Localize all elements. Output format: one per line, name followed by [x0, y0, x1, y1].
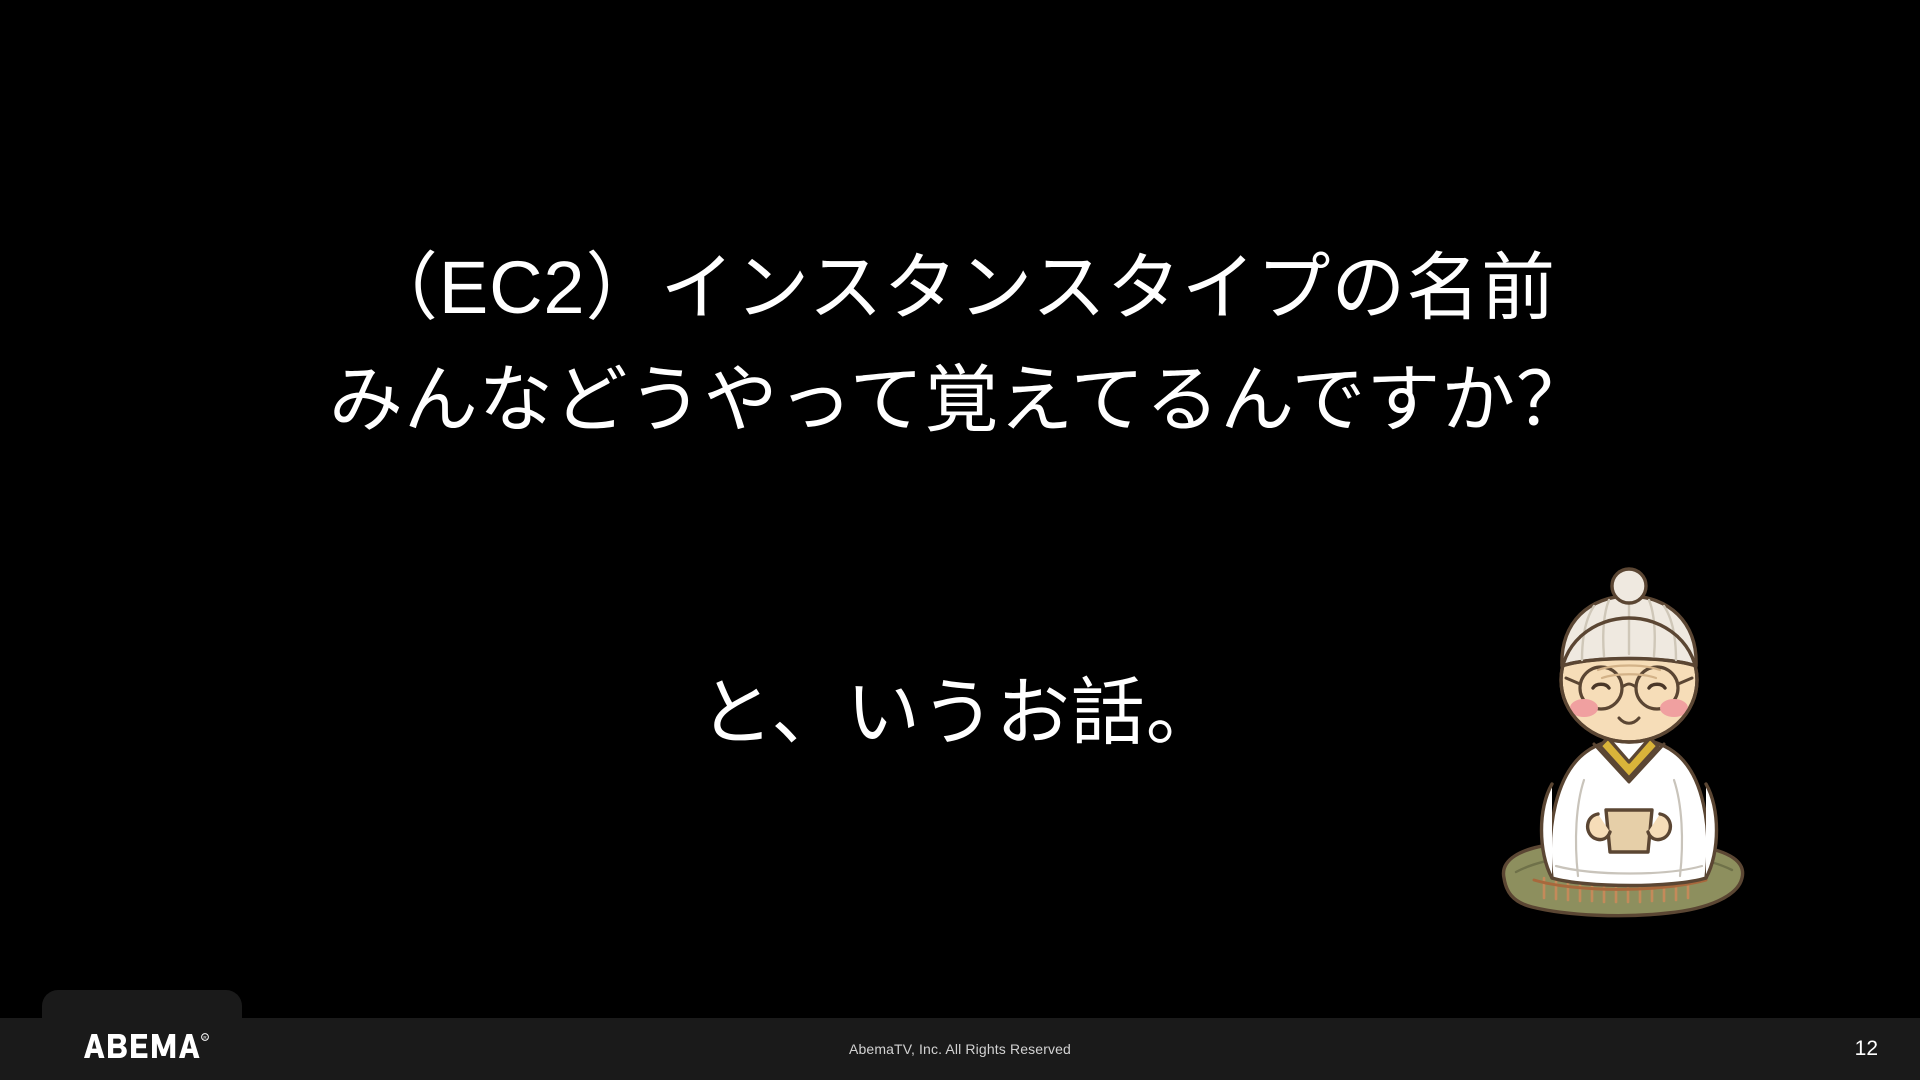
headline-line-1: （EC2）インスタンスタイプの名前: [0, 232, 1920, 344]
page-number: 12: [1855, 1018, 1878, 1080]
abema-logo: R: [82, 1032, 210, 1060]
slide-footer: AbemaTV, Inc. All Rights Reserved 12: [0, 1018, 1920, 1080]
headline-line-2: みんなどうやって覚えてるんですか？: [0, 344, 1920, 456]
copyright-text: AbemaTV, Inc. All Rights Reserved: [0, 1018, 1920, 1080]
headline-block: （EC2）インスタンスタイプの名前 みんなどうやって覚えてるんですか？: [0, 0, 1920, 457]
grandma-on-cushion-illustration: [1482, 560, 1762, 935]
svg-text:R: R: [203, 1035, 207, 1040]
slide-canvas: （EC2）インスタンスタイプの名前 みんなどうやって覚えてるんですか？ と、いう…: [0, 0, 1920, 1080]
